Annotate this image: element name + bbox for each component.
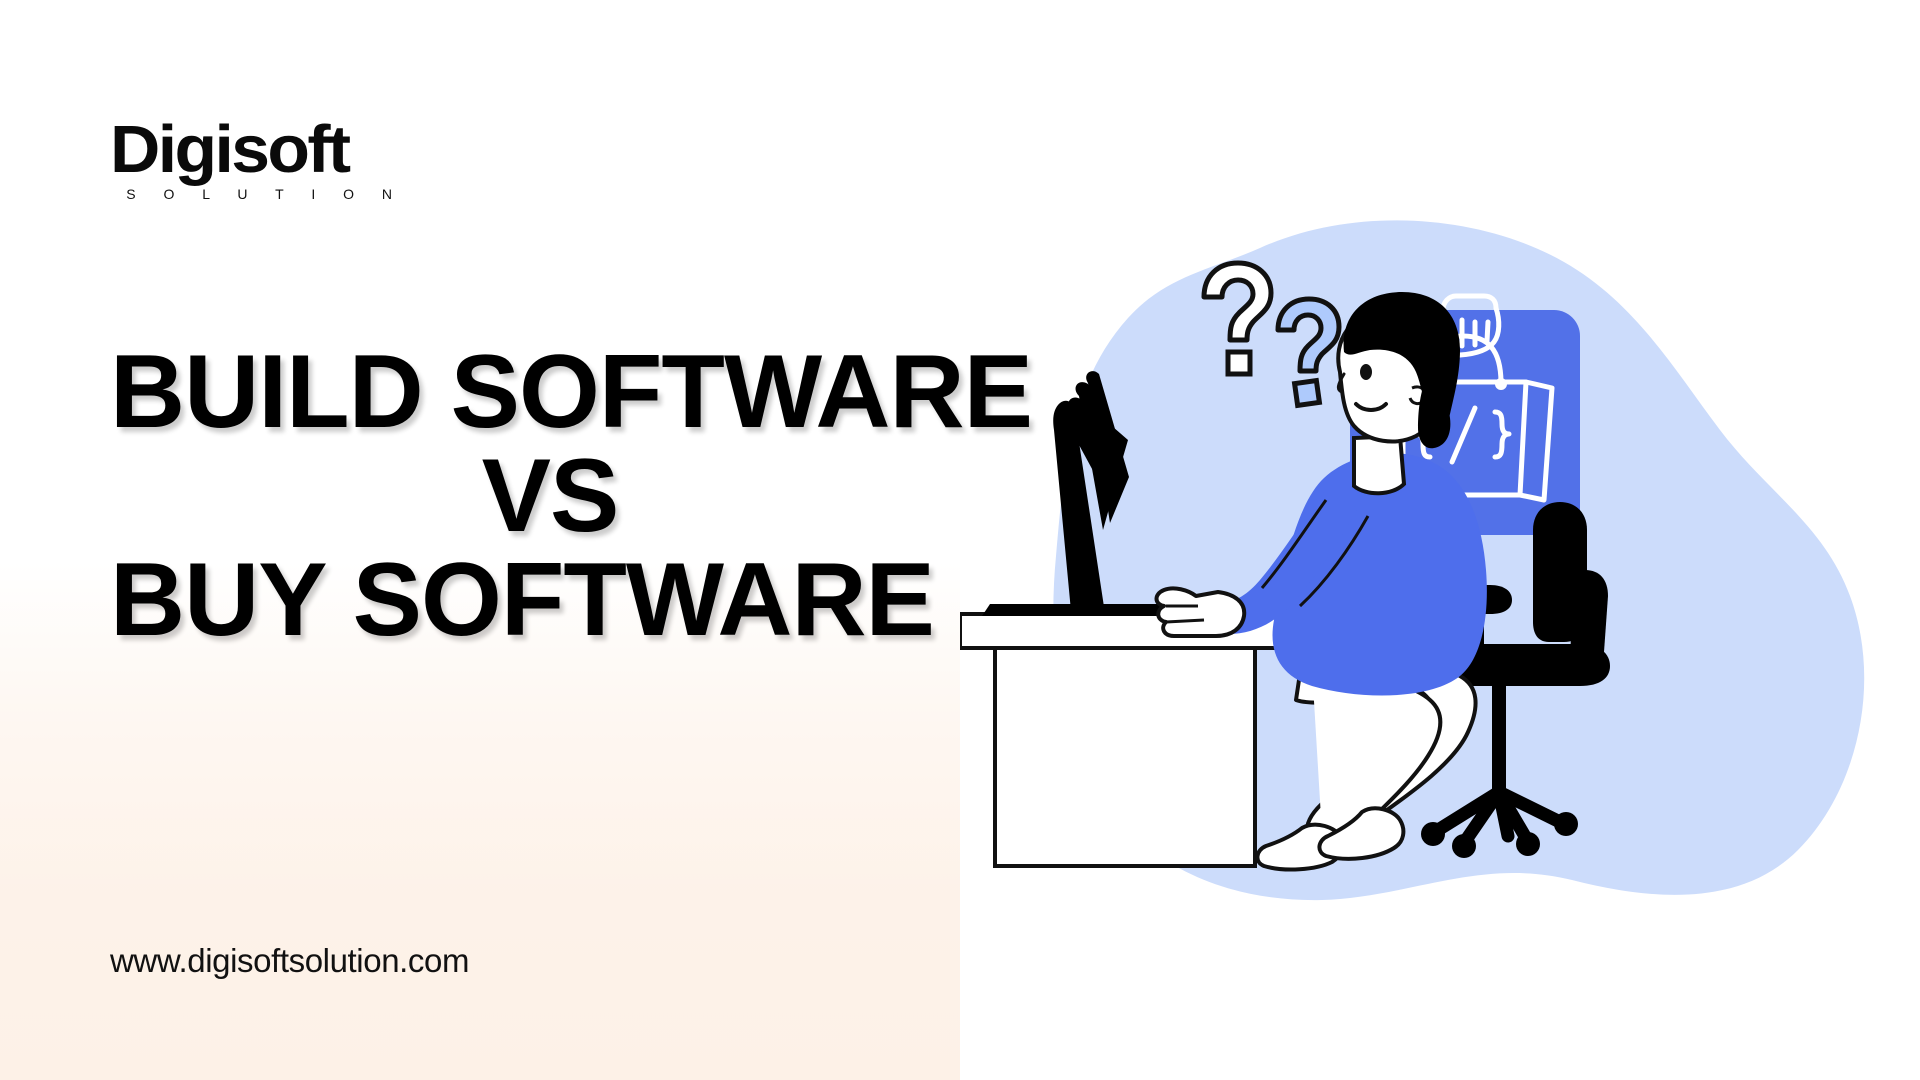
brand-logo: Digisoft S O L U T I O N (110, 118, 440, 202)
question-mark-dot (1228, 352, 1250, 374)
desk-panel (995, 648, 1255, 866)
hero-illustration (960, 0, 1920, 1080)
website-url[interactable]: www.digisoftsolution.com (110, 942, 469, 980)
headline-line-buy: BUY SOFTWARE (110, 548, 1040, 652)
headline-line-build: BUILD SOFTWARE (110, 340, 1040, 444)
brand-name: Digisoft (110, 118, 453, 182)
person-neck (1354, 436, 1404, 493)
question-mark-dot (1295, 381, 1320, 406)
headline-line-vs: VS (110, 444, 990, 548)
person-hands (1157, 588, 1245, 636)
brand-tagline: S O L U T I O N (104, 186, 404, 202)
chair-column (1492, 684, 1506, 796)
page-title: BUILD SOFTWARE VS BUY SOFTWARE (110, 340, 1040, 652)
handle-rivet-right (1495, 378, 1507, 390)
person-eye (1360, 364, 1372, 380)
